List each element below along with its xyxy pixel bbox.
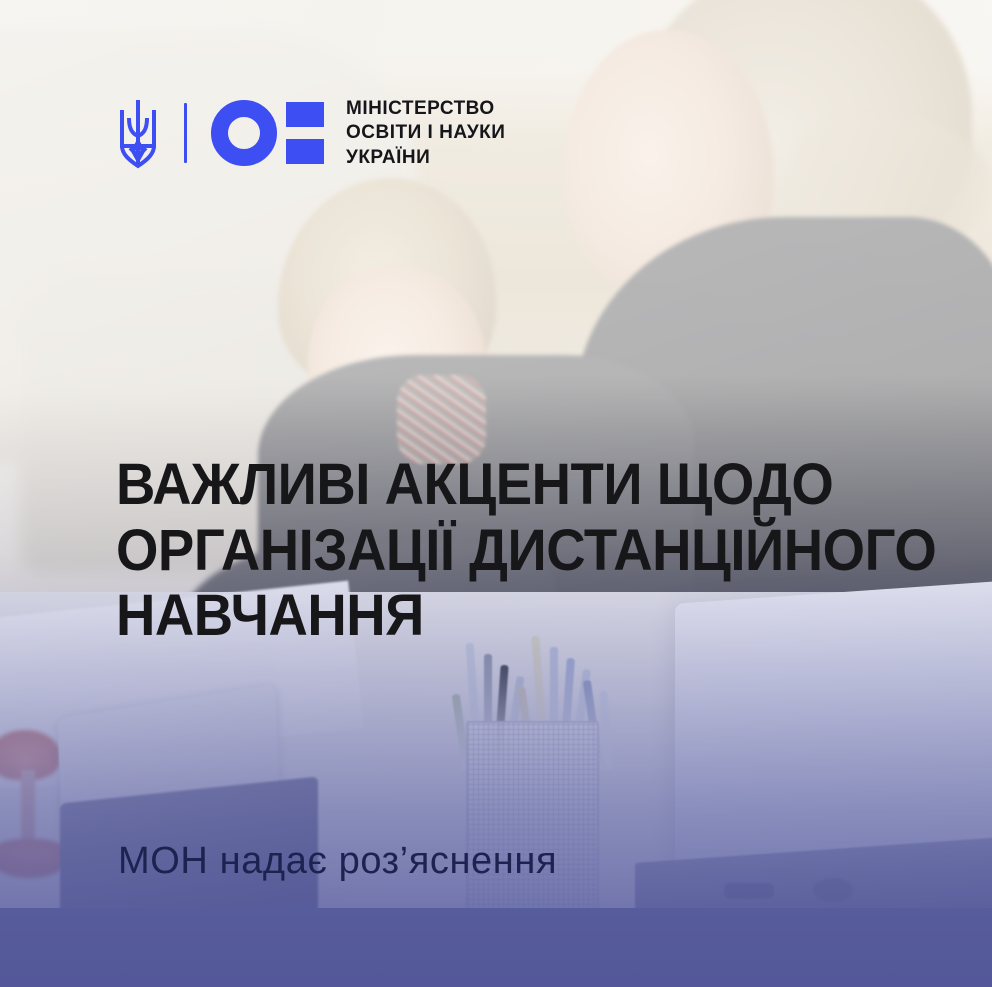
- photo-table-edge: [0, 908, 992, 987]
- page-title-line-2: ОРГАНІЗАЦІЇ ДИСТАНЦІЙНОГО: [116, 518, 868, 584]
- mark-equals-bar-bottom: [286, 139, 324, 164]
- mon-circle-equals-icon: [211, 100, 324, 166]
- page-title: ВАЖЛИВІ АКЦЕНТИ ЩОДО ОРГАНІЗАЦІЇ ДИСТАНЦ…: [116, 452, 868, 649]
- page-subtitle: МОН надає роз’яснення: [118, 840, 557, 883]
- ministry-name-line-1: МІНІСТЕРСТВО: [346, 98, 505, 119]
- ukraine-trident-icon: [110, 96, 166, 170]
- vertical-divider-icon: [184, 103, 187, 163]
- page-title-line-1: ВАЖЛИВІ АКЦЕНТИ ЩОДО: [116, 452, 868, 518]
- ministry-logo: МІНІСТЕРСТВО ОСВІТИ І НАУКИ УКРАЇНИ: [110, 96, 505, 170]
- photo-boy-collar: [397, 375, 486, 464]
- mark-equals-icon: [286, 102, 324, 164]
- ministry-name-line-3: УКРАЇНИ: [346, 147, 505, 168]
- ministry-name: МІНІСТЕРСТВО ОСВІТИ І НАУКИ УКРАЇНИ: [346, 98, 505, 168]
- poster-root: МІНІСТЕРСТВО ОСВІТИ І НАУКИ УКРАЇНИ ВАЖЛ…: [0, 0, 992, 987]
- photo-hourglass-stem: [21, 770, 35, 849]
- page-title-line-3: НАВЧАННЯ: [116, 583, 868, 649]
- mark-circle-icon: [211, 100, 277, 166]
- photo-laptop-keyboard: [724, 883, 774, 899]
- ministry-name-line-2: ОСВІТИ І НАУКИ: [346, 122, 505, 143]
- mark-equals-bar-top: [286, 102, 324, 127]
